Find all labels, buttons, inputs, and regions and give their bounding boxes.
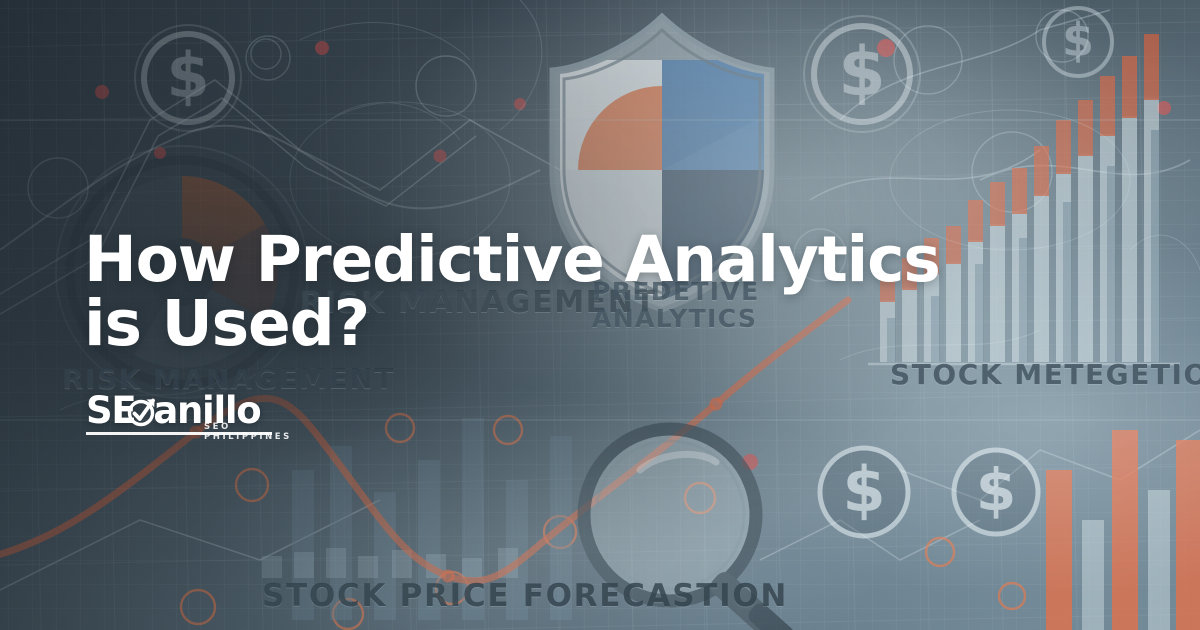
page-title: How Predictive Analytics is Used?: [84, 228, 1044, 357]
page-title-line-1: How Predictive Analytics: [84, 223, 940, 296]
artwork-label-stock-mitigation: STOCK METEGETION: [890, 358, 1200, 391]
brand-tagline: SEO PHILIPPINES: [204, 422, 292, 442]
artwork-label-stock-price-forecast: STOCK PRICE FORECASTION: [262, 578, 788, 614]
brand-logo[interactable]: SE anillo SEO PHILIPPINES: [86, 392, 272, 435]
checkmark-arrow-icon: [126, 394, 160, 428]
banner: $ $ $ $: [0, 0, 1200, 630]
page-title-line-2: is Used?: [84, 292, 1044, 356]
